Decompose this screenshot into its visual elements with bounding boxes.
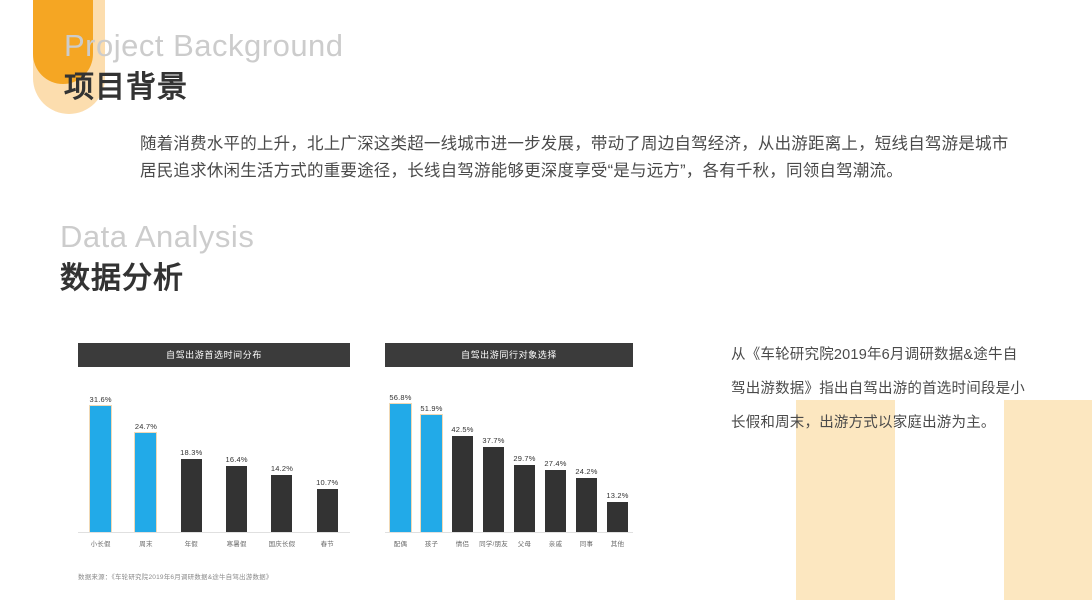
bar-slot: 24.7% xyxy=(123,388,168,532)
bar-slot: 42.5% xyxy=(447,388,478,532)
project-background-paragraph: 随着消费水平的上升，北上广深这类超一线城市进一步发展，带动了周边自驾经济，从出游… xyxy=(140,131,1020,185)
bar-slot: 18.3% xyxy=(169,388,214,532)
bar-rect xyxy=(545,470,566,532)
chart-travel-companion-choice: 自驾出游同行对象选择 56.8%51.9%42.5%37.7%29.7%27.4… xyxy=(385,343,633,548)
bar-value-label: 10.7% xyxy=(316,478,338,487)
bar-rect xyxy=(317,489,338,532)
project-background-title-cn: 项目背景 xyxy=(64,62,188,106)
bar-value-label: 16.4% xyxy=(226,455,248,464)
x-axis-line xyxy=(78,532,350,533)
project-background-title-en: Project Background xyxy=(64,28,344,64)
bar-group: 31.6%24.7%18.3%16.4%14.2%10.7% xyxy=(78,388,350,532)
category-label: 同事 xyxy=(571,538,602,548)
bar-slot: 13.2% xyxy=(602,388,633,532)
category-label: 同学/朋友 xyxy=(478,538,509,548)
category-labels: 配偶孩子情侣同学/朋友父母亲戚同事其他 xyxy=(385,538,633,548)
chart-title: 自驾出游同行对象选择 xyxy=(385,343,633,367)
slide-canvas: Project Background 项目背景 随着消费水平的上升，北上广深这类… xyxy=(0,0,1092,600)
bar-value-label: 27.4% xyxy=(544,459,566,468)
bar-rect xyxy=(181,459,202,532)
category-label: 小长假 xyxy=(78,538,123,548)
bar-group: 56.8%51.9%42.5%37.7%29.7%27.4%24.2%13.2% xyxy=(385,388,633,532)
bar-rect xyxy=(90,406,111,532)
bar-value-label: 51.9% xyxy=(420,404,442,413)
data-analysis-title-cn: 数据分析 xyxy=(60,253,184,297)
data-analysis-title-en: Data Analysis xyxy=(60,219,254,255)
bar-value-label: 18.3% xyxy=(180,448,202,457)
bar-slot: 24.2% xyxy=(571,388,602,532)
bar-slot: 51.9% xyxy=(416,388,447,532)
bar-value-label: 37.7% xyxy=(482,436,504,445)
bar-value-label: 14.2% xyxy=(271,464,293,473)
category-label: 寒暑假 xyxy=(214,538,259,548)
chart-title: 自驾出游首选时间分布 xyxy=(78,343,350,367)
bar-rect xyxy=(271,475,292,532)
bar-slot: 10.7% xyxy=(305,388,350,532)
bar-slot: 56.8% xyxy=(385,388,416,532)
category-label: 国庆长假 xyxy=(259,538,304,548)
bar-slot: 37.7% xyxy=(478,388,509,532)
category-label: 情侣 xyxy=(447,538,478,548)
x-axis-line xyxy=(385,532,633,533)
bar-rect xyxy=(514,465,535,532)
bar-slot: 29.7% xyxy=(509,388,540,532)
category-label: 年假 xyxy=(169,538,214,548)
bar-rect xyxy=(452,436,473,532)
category-label: 亲戚 xyxy=(540,538,571,548)
bar-slot: 14.2% xyxy=(259,388,304,532)
category-label: 配偶 xyxy=(385,538,416,548)
analysis-commentary: 从《车轮研究院2019年6月调研数据&途牛自驾出游数据》指出自驾出游的首选时间段… xyxy=(731,338,1027,440)
bar-slot: 31.6% xyxy=(78,388,123,532)
bar-slot: 27.4% xyxy=(540,388,571,532)
chart-source-note: 数据来源：《车轮研究院2019年6月调研数据&途牛自驾出游数据》 xyxy=(78,571,350,581)
bar-value-label: 24.2% xyxy=(575,467,597,476)
bar-slot: 16.4% xyxy=(214,388,259,532)
bar-rect xyxy=(576,478,597,532)
bar-rect xyxy=(135,433,156,532)
bar-value-label: 56.8% xyxy=(389,393,411,402)
bar-rect xyxy=(607,502,628,532)
bar-rect xyxy=(483,447,504,532)
bar-value-label: 24.7% xyxy=(135,422,157,431)
category-label: 周末 xyxy=(123,538,168,548)
bar-rect xyxy=(421,415,442,532)
chart-plot-area: 31.6%24.7%18.3%16.4%14.2%10.7% xyxy=(78,388,350,533)
bar-value-label: 29.7% xyxy=(513,454,535,463)
bar-rect xyxy=(390,404,411,532)
chart-preferred-time-distribution: 自驾出游首选时间分布 31.6%24.7%18.3%16.4%14.2%10.7… xyxy=(78,343,350,581)
chart-plot-area: 56.8%51.9%42.5%37.7%29.7%27.4%24.2%13.2% xyxy=(385,388,633,533)
bar-value-label: 42.5% xyxy=(451,425,473,434)
category-label: 其他 xyxy=(602,538,633,548)
bar-rect xyxy=(226,466,247,532)
category-label: 孩子 xyxy=(416,538,447,548)
category-label: 春节 xyxy=(305,538,350,548)
category-labels: 小长假周末年假寒暑假国庆长假春节 xyxy=(78,538,350,548)
category-label: 父母 xyxy=(509,538,540,548)
bar-value-label: 31.6% xyxy=(90,395,112,404)
bar-value-label: 13.2% xyxy=(606,491,628,500)
